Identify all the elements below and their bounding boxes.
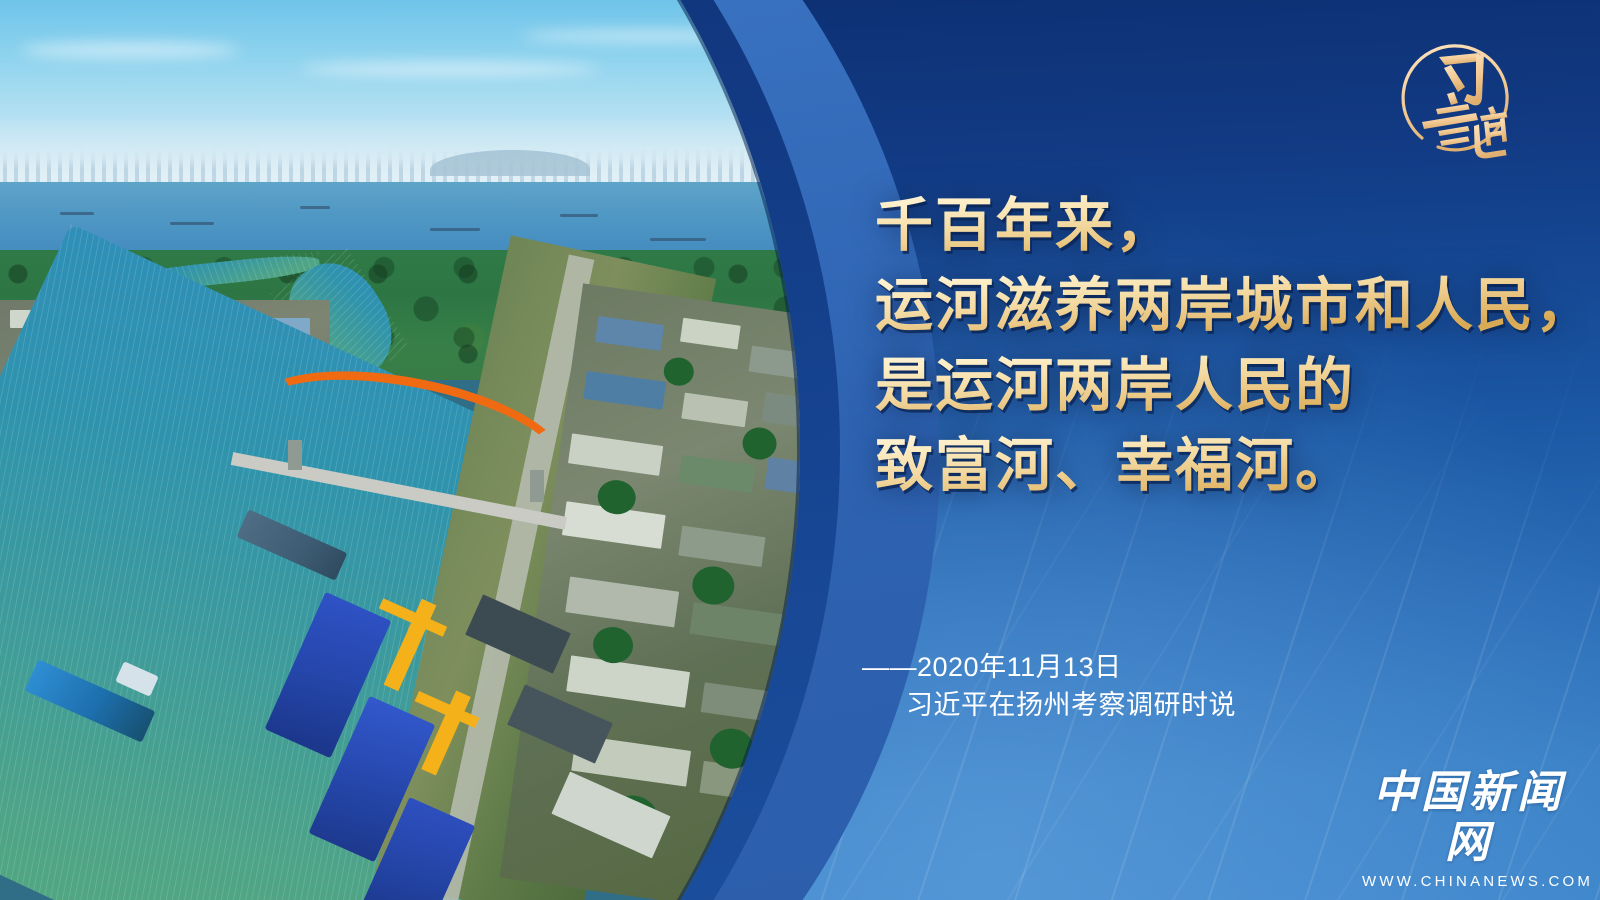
quote-line-2: 运河滋养两岸城市和人民， (875, 266, 1575, 346)
quote-block: 千百年来， 运河滋养两岸城市和人民， 是运河两岸人民的 致富河、幸福河。 (875, 186, 1575, 506)
photo-river-vessel (430, 228, 480, 231)
photo-river-vessel (560, 214, 598, 217)
attribution-source: 习近平在扬州考察调研时说 (906, 686, 1236, 724)
photo-city-skyline (0, 148, 800, 184)
brand-url: WWW.CHINANEWS.COM (1362, 873, 1576, 890)
quote-line-4: 致富河、幸福河。 (875, 426, 1575, 506)
xi-yan-dao-seal-logo (1392, 30, 1526, 164)
photo-river-vessel (170, 222, 214, 225)
quote-line-3: 是运河两岸人民的 (875, 346, 1575, 426)
quote-line-1: 千百年来， (875, 186, 1575, 266)
attribution-block: ——2020年11月13日 习近平在扬州考察调研时说 (862, 648, 1236, 724)
photo-cloud (520, 30, 780, 42)
photo-river-vessel (650, 238, 706, 241)
aerial-photo (0, 0, 800, 900)
poster-canvas: 千百年来， 运河滋养两岸城市和人民， 是运河两岸人民的 致富河、幸福河。 ——2… (0, 0, 1600, 900)
photo-cloud (20, 42, 240, 58)
brand-name-cn: 中国新闻网 (1362, 768, 1576, 868)
attribution-date: ——2020年11月13日 (862, 648, 1236, 686)
photo-bridge-pier (288, 440, 302, 470)
photo-cloud (300, 62, 600, 76)
chinanews-brand: 中国新闻网 WWW.CHINANEWS.COM (1362, 768, 1576, 890)
photo-river-vessel (60, 212, 94, 215)
photo-clip-mask (0, 0, 800, 900)
photo-bridge-pier (530, 470, 544, 502)
photo-river-vessel (300, 206, 330, 209)
